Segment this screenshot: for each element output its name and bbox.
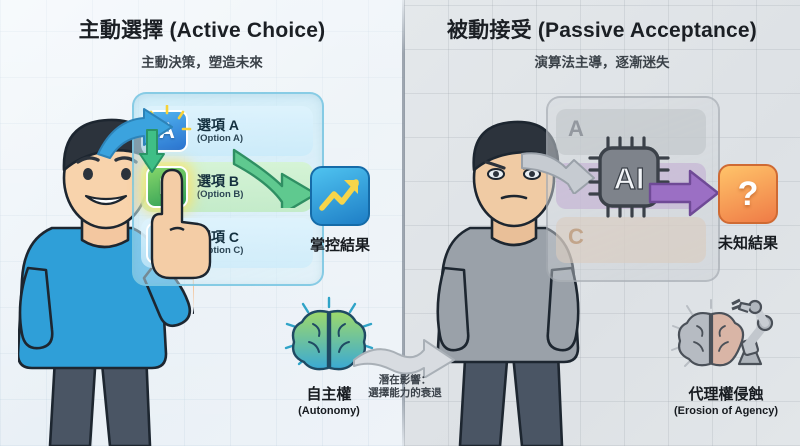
left-panel-subtitle: 主動決策，塑造未來 bbox=[0, 51, 404, 71]
erosion-label-en: (Erosion of Agency) bbox=[660, 405, 792, 417]
question-mark-icon: ? bbox=[718, 164, 778, 224]
trending-up-icon bbox=[310, 166, 370, 226]
flow-note: 潛在影響： 選擇能力的衰退 bbox=[346, 374, 464, 400]
option-a-label-zh: 選項 A bbox=[197, 118, 243, 133]
erosion-item: 代理權侵蝕 (Erosion of Agency) bbox=[660, 296, 792, 417]
faded-option-row-c: C bbox=[556, 217, 706, 263]
controlled-result-label: 掌控結果 bbox=[293, 234, 387, 255]
faded-option-c-letter: C bbox=[568, 224, 584, 250]
right-panel-title: 被動接受 (Passive Acceptance) bbox=[404, 14, 800, 44]
comparison-infographic: 主動選擇 (Active Choice) 主動決策，塑造未來 被動接受 (Pas… bbox=[0, 0, 800, 446]
option-a-label-en: (Option A) bbox=[197, 134, 243, 144]
right-panel-header: 被動接受 (Passive Acceptance) 演算法主導，逐漸迷失 bbox=[404, 14, 800, 71]
unknown-result-label: 未知結果 bbox=[706, 232, 790, 253]
ai-chip-label: AI bbox=[614, 161, 645, 196]
autonomy-label-en: (Autonomy) bbox=[268, 405, 390, 417]
left-panel-title: 主動選擇 (Active Choice) bbox=[0, 14, 404, 44]
question-mark-glyph: ? bbox=[738, 175, 759, 214]
right-panel-subtitle: 演算法主導，逐漸迷失 bbox=[404, 51, 800, 71]
flow-note-line1: 潛在影響： bbox=[346, 374, 464, 387]
faded-option-a-letter: A bbox=[568, 116, 584, 142]
pointing-hand-icon bbox=[150, 160, 212, 280]
controlled-result: 掌控結果 bbox=[293, 166, 387, 255]
unknown-result: ? 未知結果 bbox=[706, 164, 790, 253]
left-panel-header: 主動選擇 (Active Choice) 主動決策，塑造未來 bbox=[0, 14, 404, 71]
erosion-label-zh: 代理權侵蝕 bbox=[660, 383, 792, 404]
flow-note-line2: 選擇能力的衰退 bbox=[346, 387, 464, 400]
flow-transition-arrow-icon bbox=[352, 336, 456, 378]
grey-curved-arrow-icon bbox=[520, 148, 596, 194]
robot-arm-brain-icon bbox=[661, 296, 791, 374]
